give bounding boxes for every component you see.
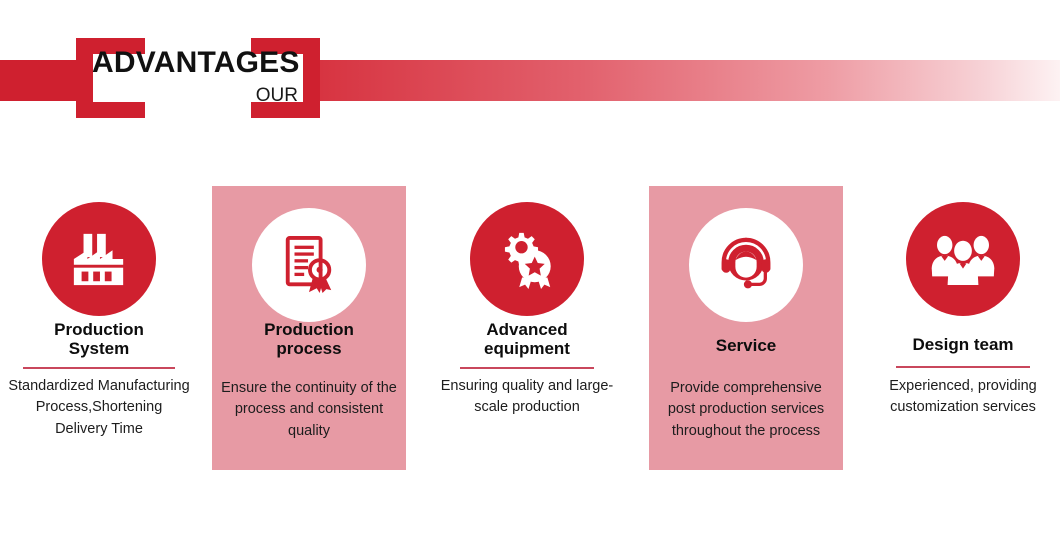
icon-circle — [906, 202, 1020, 316]
card-title-line2: equipment — [484, 339, 570, 358]
card-title: Production process — [212, 320, 406, 358]
icon-circle — [42, 202, 156, 316]
card-title-line1: Advanced — [486, 320, 567, 339]
card-description: Ensure the continuity of the process and… — [212, 378, 406, 442]
advantage-card-advanced-equipment[interactable]: Advanced equipment Ensuring quality and … — [430, 180, 624, 470]
card-title: Design team — [866, 335, 1060, 354]
icon-circle — [689, 208, 803, 322]
page-subtitle: OUR — [0, 86, 298, 105]
card-title: Production System — [2, 320, 196, 358]
headset-support-icon — [716, 236, 776, 294]
card-title-line2: process — [276, 339, 341, 358]
card-description: Experienced, providing customization ser… — [866, 376, 1060, 419]
page-title: ADVANTAGES — [92, 48, 300, 78]
card-title: Advanced equipment — [430, 320, 624, 358]
advantage-card-production-process[interactable]: Production process Ensure the continuity… — [212, 186, 406, 470]
factory-icon — [68, 230, 130, 288]
card-description: Standardized Manufacturing Process,Short… — [2, 376, 196, 440]
advantage-card-design-team[interactable]: Design team Experienced, providing custo… — [866, 180, 1060, 470]
certificate-ribbon-icon — [280, 235, 338, 295]
advantage-card-service[interactable]: Service Provide comprehensive post produ… — [649, 186, 843, 470]
card-title-line1: Design team — [912, 335, 1013, 354]
title-underline — [896, 366, 1030, 368]
advantages-card-row: Production System Standardized Manufactu… — [0, 180, 1060, 480]
title-underline — [460, 367, 594, 369]
card-title-line1: Production — [264, 320, 354, 339]
card-description: Ensuring quality and large-scale product… — [430, 376, 624, 419]
card-description: Provide comprehensive post production se… — [649, 378, 843, 442]
card-title: Service — [649, 336, 843, 355]
card-title-line2: System — [69, 339, 129, 358]
team-people-icon — [931, 233, 995, 285]
icon-circle — [252, 208, 366, 322]
gears-star-badge-icon — [496, 229, 558, 289]
title-underline — [23, 367, 175, 369]
page-header: ADVANTAGES OUR — [0, 0, 1060, 150]
card-title-line1: Production — [54, 320, 144, 339]
advantage-card-production-system[interactable]: Production System Standardized Manufactu… — [2, 180, 196, 470]
icon-circle — [470, 202, 584, 316]
card-title-line1: Service — [716, 336, 777, 355]
